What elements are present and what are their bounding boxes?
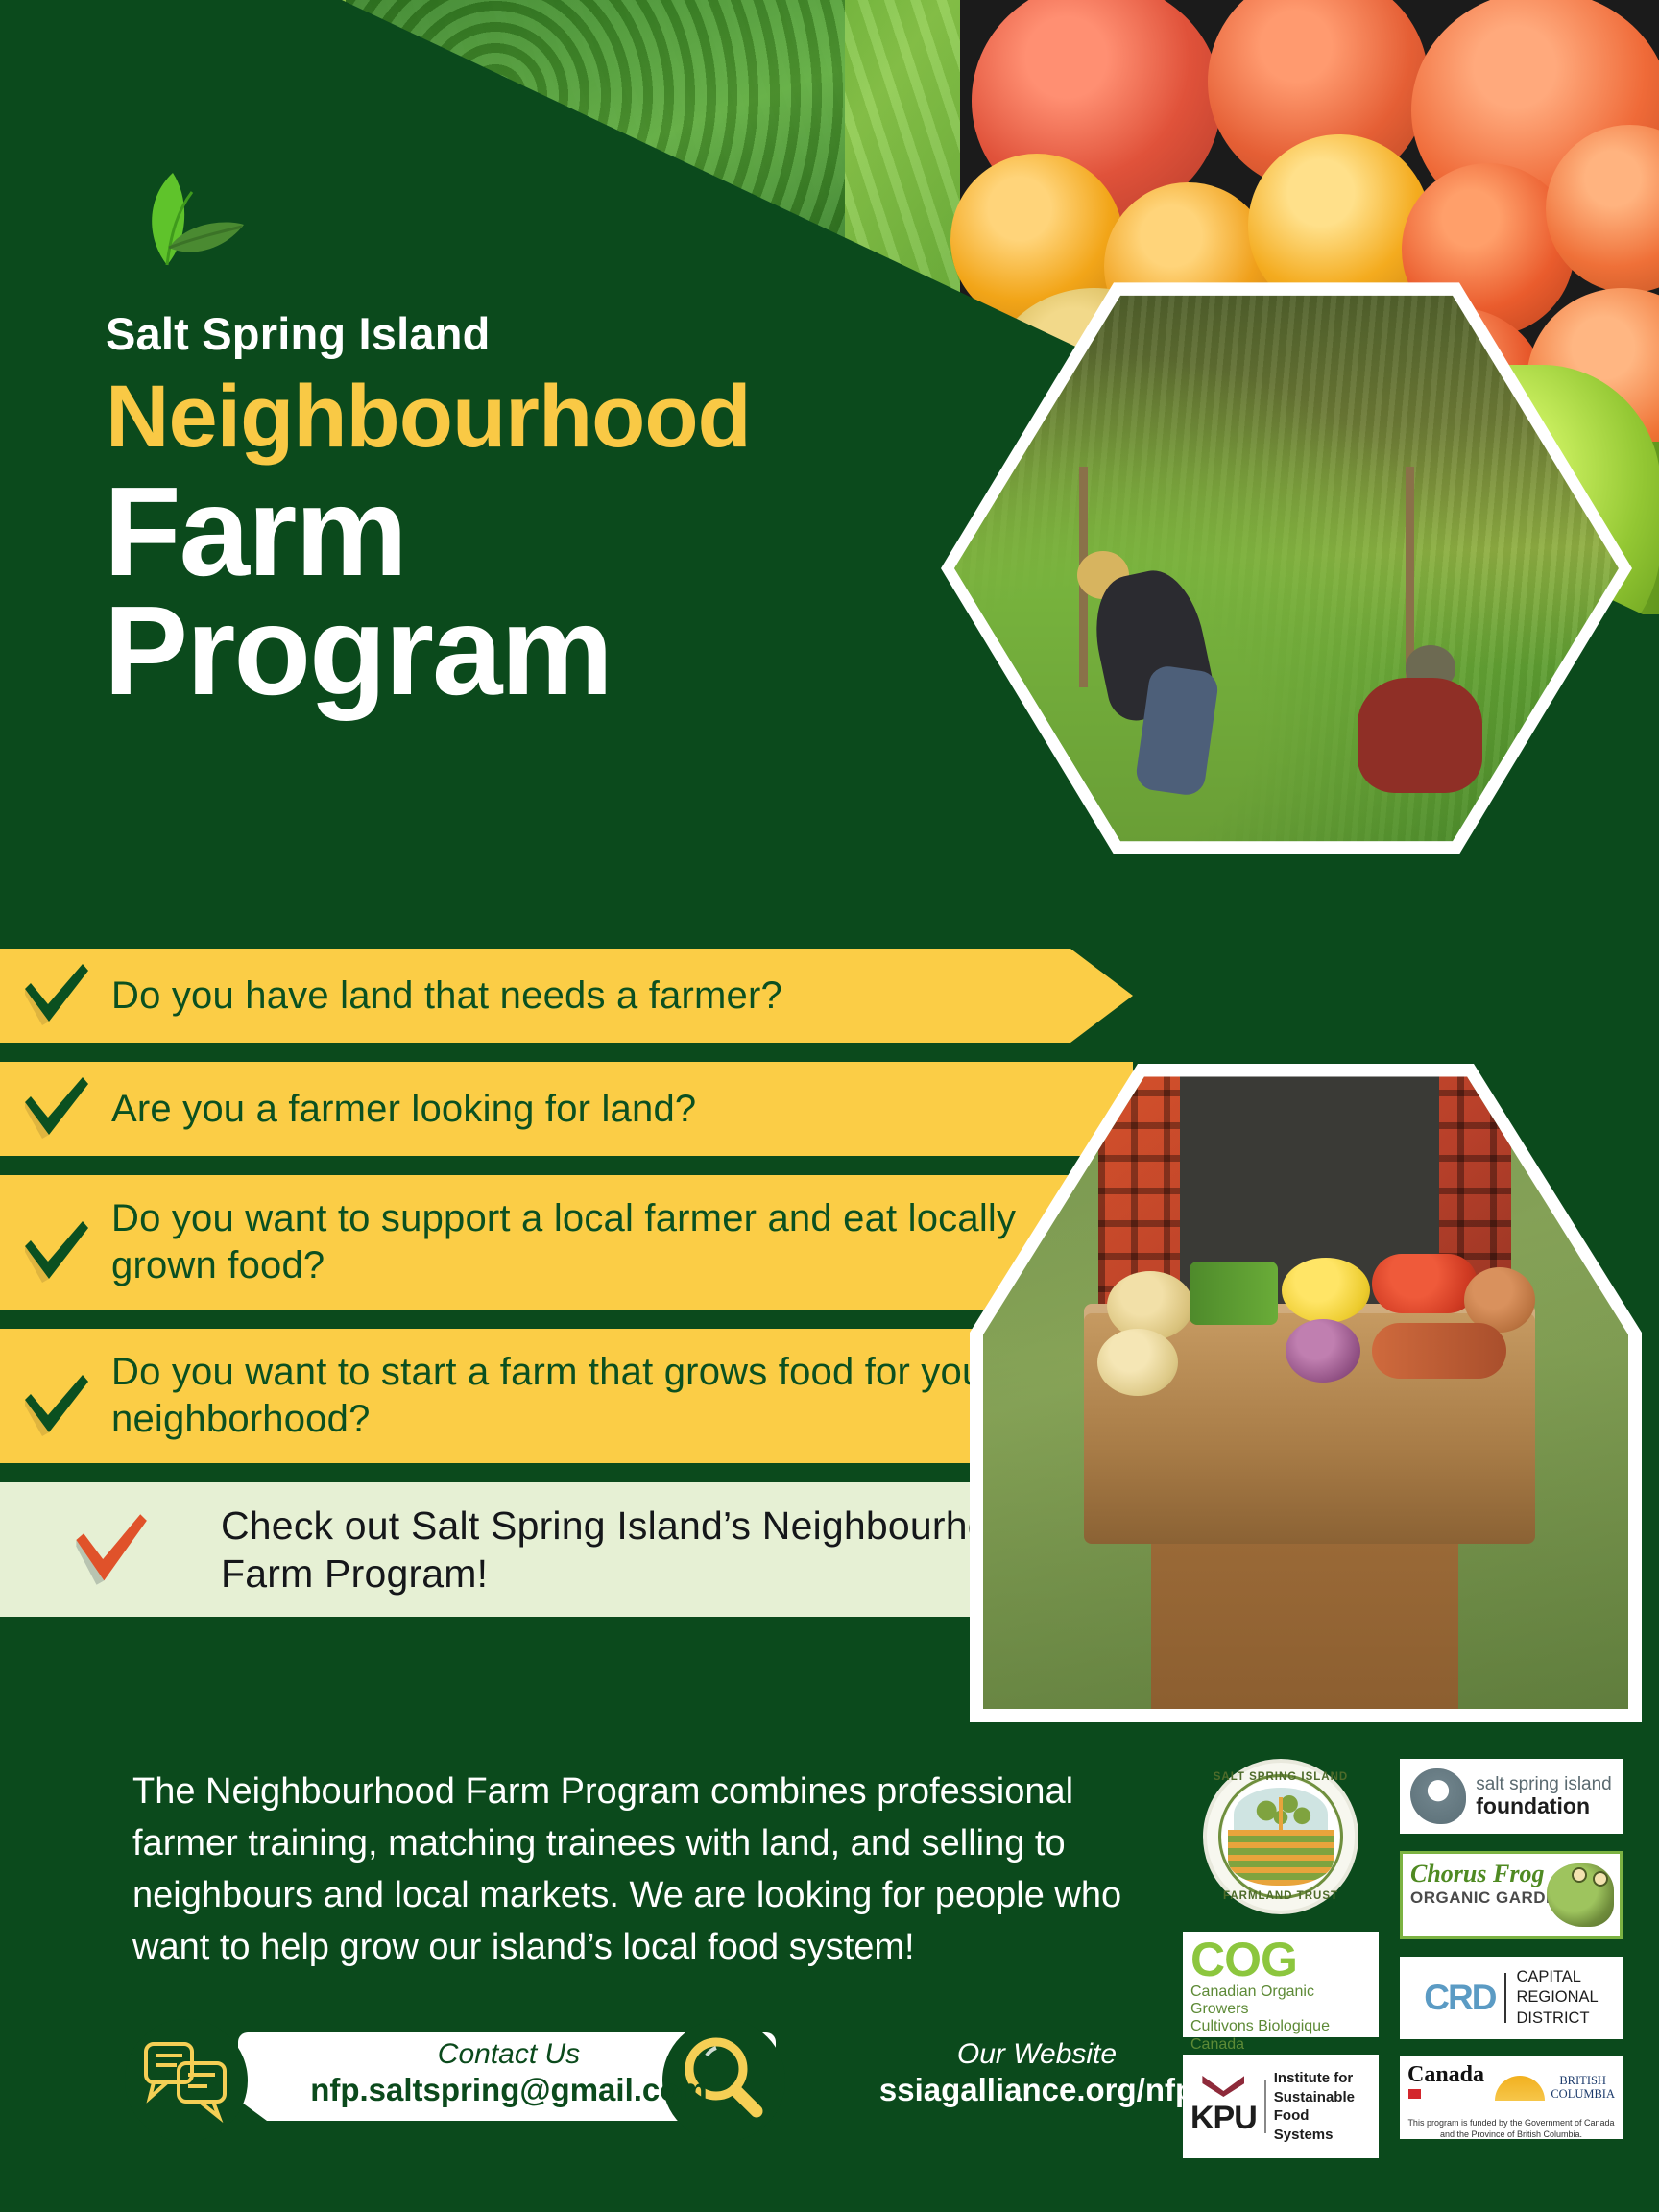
check-icon <box>0 962 111 1029</box>
foundation-line-1: salt spring island <box>1476 1775 1612 1794</box>
kpu-institute-name: Institute for Sustainable Food Systems <box>1274 2069 1371 2144</box>
sponsor-logo-ssi-foundation: salt spring island foundation <box>1400 1759 1623 1834</box>
kpu-line-3: Food Systems <box>1274 2106 1371 2144</box>
main-title-line-2: Program <box>104 591 612 710</box>
contact-icon-circle <box>125 2019 248 2142</box>
brown-pants <box>1151 1515 1458 1736</box>
highlight-title: Neighbourhood <box>106 367 751 468</box>
frog-eye <box>1572 1867 1587 1883</box>
main-title-line-1: Farm <box>104 472 612 591</box>
chat-bubbles-icon <box>125 2019 248 2142</box>
kpu-mark: KPU <box>1190 2100 1257 2137</box>
sponsor-logo-chorus-frog: Chorus Frog ORGANIC GARDENS <box>1400 1851 1623 1939</box>
onion <box>1286 1319 1360 1382</box>
leaf-logo-icon <box>123 163 248 269</box>
sponsor-logo-kpu: KPU Institute for Sustainable Food Syste… <box>1183 2055 1379 2158</box>
sponsor-logo-ssi-farmland-trust: SALT SPRING ISLAND FARMLAND TRUST <box>1203 1759 1358 1914</box>
pre-title: Salt Spring Island <box>106 307 491 360</box>
check-icon-orange <box>0 1512 221 1587</box>
hexagon-photo-inner <box>983 1064 1628 1709</box>
logo-text-bottom: FARMLAND TRUST <box>1207 1890 1355 1902</box>
checklist-item-4[interactable]: Check out Salt Spring Island’s Neighbour… <box>0 1482 1133 1617</box>
sponsor-logo-canadian-organic-growers: COG Canadian Organic Growers Cultivons B… <box>1183 1932 1379 2037</box>
program-description: The Neighbourhood Farm Program combines … <box>132 1767 1150 1974</box>
kpu-line-2: Sustainable <box>1274 2088 1371 2107</box>
contact-us-label: Contact Us <box>269 2038 749 2070</box>
funding-note: This program is funded by the Government… <box>1407 2118 1615 2140</box>
cog-line-1: Canadian Organic Growers <box>1190 1984 1371 2019</box>
yellow-tomatoes <box>1282 1258 1370 1323</box>
foundation-line-2: foundation <box>1476 1794 1612 1817</box>
foundation-tree-icon <box>1410 1768 1466 1824</box>
logo-wordmark: SALT SPRING ISLAND FARMLAND TRUST <box>1207 1763 1355 1911</box>
cog-line-2: Cultivons Biologique Canada <box>1190 2018 1371 2054</box>
wooden-crate <box>1084 1304 1535 1544</box>
sweet-potato <box>1372 1323 1506 1379</box>
kpu-line-1: Institute for <box>1274 2069 1371 2088</box>
check-icon <box>0 1075 111 1142</box>
logo-text-top: SALT SPRING ISLAND <box>1207 1771 1355 1783</box>
canada-text: Canada <box>1407 2062 1484 2087</box>
contact-email[interactable]: nfp.saltspring@gmail.com <box>269 2070 749 2109</box>
farmer-crouching <box>1358 678 1482 793</box>
sponsor-logo-crd: CRD CAPITAL REGIONAL DISTRICT <box>1400 1957 1623 2039</box>
checklist-item-0[interactable]: Do you have land that needs a farmer? <box>0 949 1133 1043</box>
contact-strip: Contact Us nfp.saltspring@gmail.com Our … <box>125 2021 1142 2144</box>
divider <box>1504 1973 1506 2023</box>
green-beans <box>1190 1262 1278 1325</box>
bc-wordmark: BRITISH COLUMBIA <box>1551 2075 1615 2102</box>
crd-mark: CRD <box>1424 1978 1495 2018</box>
canada-bc-marks: Canada BRITISH COLUMBIA <box>1407 2062 1615 2114</box>
sponsor-logo-canada-bc: Canada BRITISH COLUMBIA This program is … <box>1400 2056 1623 2139</box>
frog-eye <box>1593 1871 1608 1887</box>
sponsor-logos: SALT SPRING ISLAND FARMLAND TRUST COG Ca… <box>1183 1759 1586 2158</box>
red-pepper <box>1372 1254 1478 1313</box>
checklist-item-text: Do you have land that needs a farmer? <box>111 973 802 1020</box>
checklist-item-1[interactable]: Are you a farmer looking for land? <box>0 1062 1133 1156</box>
cog-mark: COG <box>1190 1937 1371 1984</box>
potato <box>1097 1329 1178 1396</box>
check-icon <box>0 1198 111 1286</box>
foundation-wordmark: salt spring island foundation <box>1476 1775 1612 1817</box>
crd-line-3: DISTRICT <box>1516 2008 1598 2029</box>
main-title: Farm Program <box>104 472 612 710</box>
contact-us-block[interactable]: Contact Us nfp.saltspring@gmail.com <box>269 2038 749 2109</box>
canada-flag-icon <box>1408 2089 1421 2099</box>
crd-line-1: CAPITAL <box>1516 1967 1598 1987</box>
kpu-bird-icon <box>1202 2076 1244 2097</box>
bc-line-2: COLUMBIA <box>1551 2088 1615 2102</box>
poster-canvas: Salt Spring Island Neighbourhood Farm Pr… <box>0 0 1659 2212</box>
bc-line-1: BRITISH <box>1551 2075 1615 2088</box>
crd-line-2: REGIONAL <box>1516 1987 1598 2008</box>
divider <box>1264 2080 1266 2133</box>
canada-wordmark: Canada <box>1407 2062 1495 2114</box>
crd-wordmark: CAPITAL REGIONAL DISTRICT <box>1516 1967 1598 2029</box>
bc-sun-icon <box>1495 2076 1545 2101</box>
checklist-item-3[interactable]: Do you want to start a farm that grows f… <box>0 1329 1133 1463</box>
check-icon <box>0 1352 111 1440</box>
checklist-item-2[interactable]: Do you want to support a local farmer an… <box>0 1175 1133 1310</box>
checklist-item-text: Do you want to support a local farmer an… <box>111 1195 1133 1289</box>
checklist-item-text: Are you a farmer looking for land? <box>111 1086 715 1133</box>
frog-icon <box>1547 1863 1614 1927</box>
